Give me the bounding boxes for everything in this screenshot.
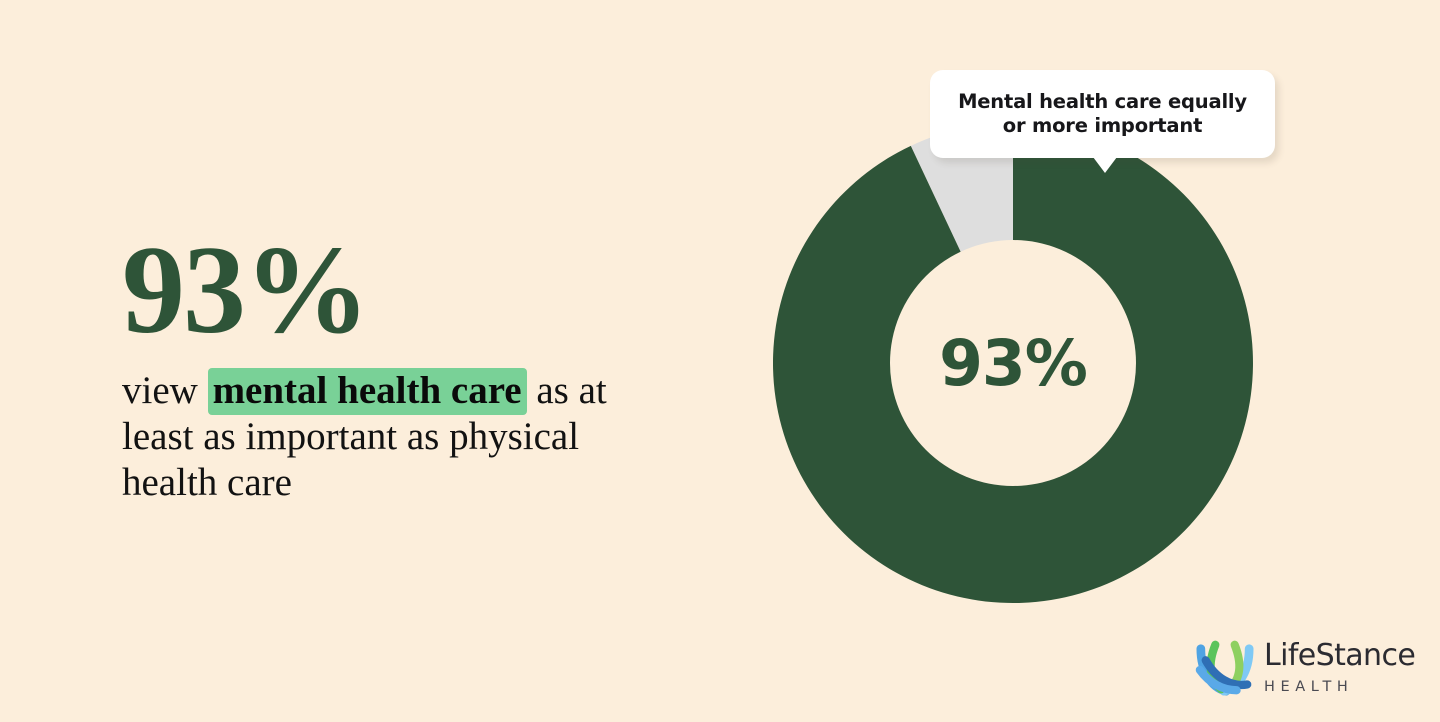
donut-chart-svg	[773, 123, 1253, 603]
lifestance-logo-name: LifeStance	[1264, 641, 1415, 671]
lifestance-logo[interactable]: LifeStance HEALTH	[1194, 637, 1412, 699]
chart-callout-pointer-icon	[1093, 157, 1117, 173]
lifestance-logo-subtitle: HEALTH	[1264, 680, 1415, 695]
stat-text-block: 93% view mental health care as at least …	[122, 228, 682, 506]
statement-prefix: view	[122, 369, 208, 412]
chart-callout-line-2: or more important	[1003, 114, 1202, 137]
chart-callout[interactable]: Mental health care equally or more impor…	[930, 70, 1275, 158]
chart-callout-text: Mental health care equally or more impor…	[958, 90, 1247, 138]
statement-paragraph: view mental health care as at least as i…	[122, 368, 652, 506]
donut-chart: 93%	[773, 123, 1253, 603]
lifestance-logo-wordmark: LifeStance HEALTH	[1264, 641, 1415, 695]
page-title: 93%	[122, 228, 682, 354]
donut-hole	[890, 240, 1136, 486]
infographic-canvas: 93% view mental health care as at least …	[0, 0, 1440, 722]
lifestance-logo-mark-icon	[1194, 639, 1256, 697]
statement-highlight: mental health care	[208, 368, 527, 415]
chart-callout-line-1: Mental health care equally	[958, 90, 1247, 113]
